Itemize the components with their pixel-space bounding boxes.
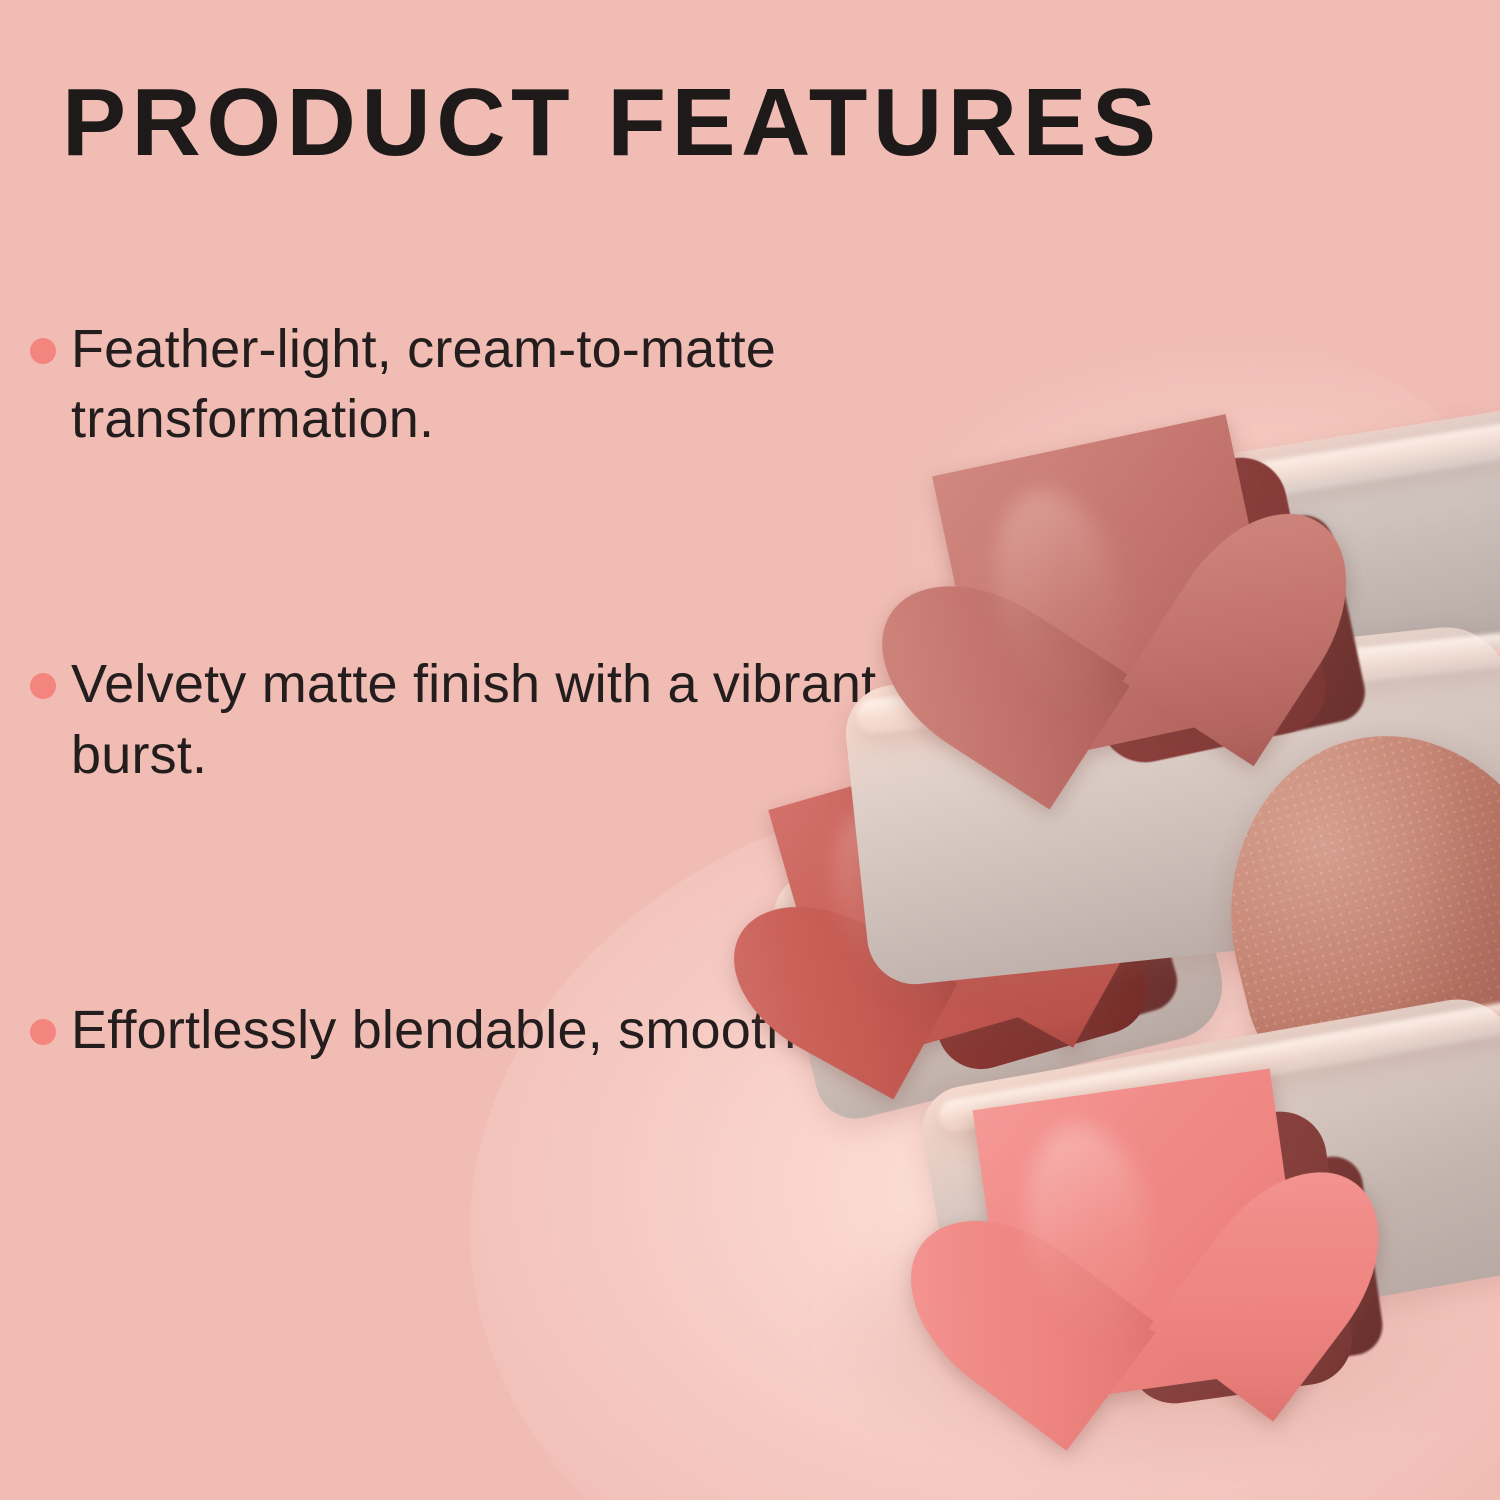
bullet-dot-icon [30,673,56,699]
product-photo [760,400,1500,1500]
bullet-dot-icon [30,338,56,364]
product-features-banner: PRODUCT FEATURES Feather-light, cream-to… [0,0,1500,1500]
bullet-dot-icon [30,1019,56,1045]
page-title: PRODUCT FEATURES [62,72,1162,174]
